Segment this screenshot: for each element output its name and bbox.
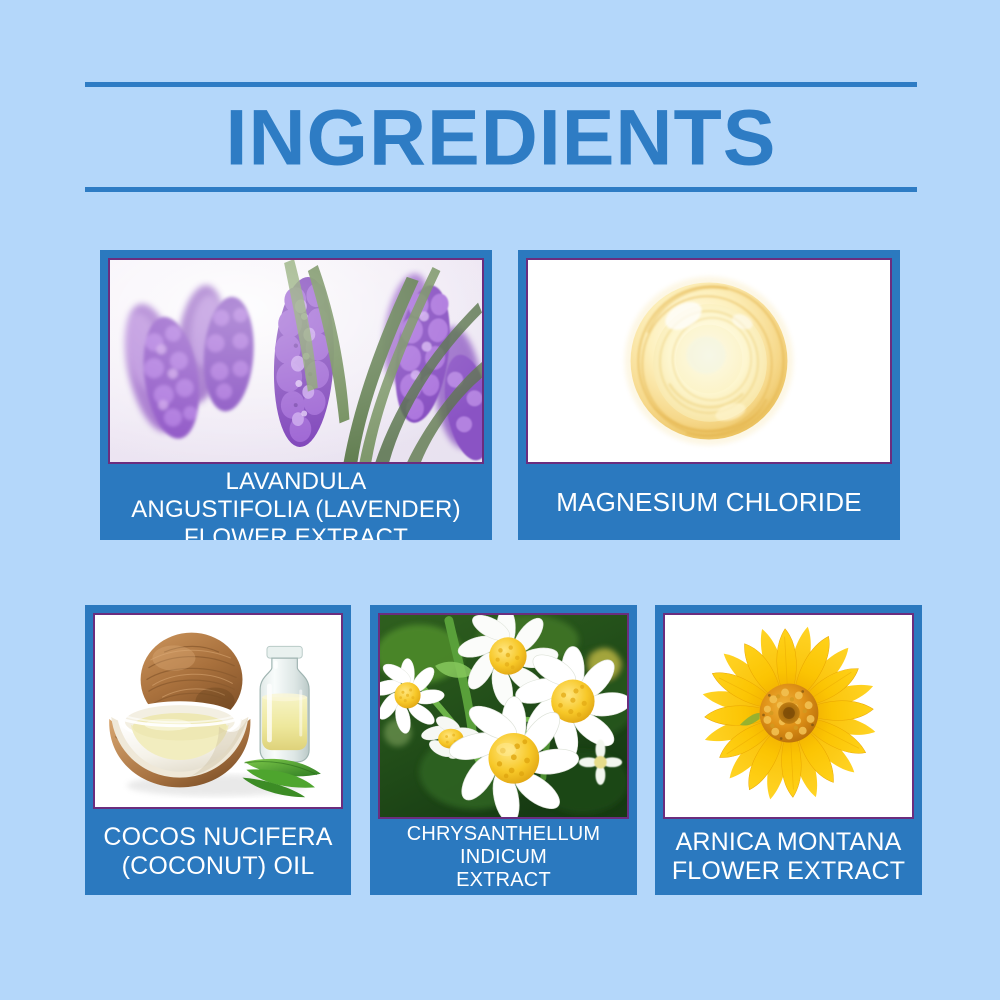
ingredient-label-magnesium-chloride: MAGNESIUM CHLORIDE: [518, 464, 900, 540]
ingredient-label-cocos-nucifera: COCOS NUCIFERA (COCONUT) OIL: [85, 809, 351, 895]
ingredient-card-arnica-montana: ARNICA MONTANA FLOWER EXTRACT: [655, 605, 922, 895]
yellow-arnica-flower-photo: [663, 613, 914, 819]
label-line: LAVANDULA: [131, 468, 461, 496]
label-line: COCOS NUCIFERA: [103, 823, 332, 852]
ingredient-card-lavandula: LAVANDULA ANGUSTIFOLIA (LAVENDER) FLOWER…: [100, 250, 492, 540]
label-line: FLOWER EXTRACT: [131, 524, 461, 540]
label-line: ANGUSTIFOLIA (LAVENDER): [131, 496, 461, 524]
label-line: EXTRACT: [407, 869, 601, 892]
header-rule-bottom: [85, 187, 917, 192]
label-line: ARNICA MONTANA: [672, 828, 905, 857]
ingredient-card-magnesium-chloride: MAGNESIUM CHLORIDE: [518, 250, 900, 540]
header-rule-top: [85, 82, 917, 87]
label-line: MAGNESIUM CHLORIDE: [556, 487, 862, 517]
label-line: CHRYSANTHELLUM: [407, 823, 601, 846]
ingredient-card-cocos-nucifera: COCOS NUCIFERA (COCONUT) OIL: [85, 605, 351, 895]
ingredients-poster: INGREDIENTS: [0, 0, 1000, 1000]
ingredient-label-arnica-montana: ARNICA MONTANA FLOWER EXTRACT: [655, 819, 922, 895]
label-line: FLOWER EXTRACT: [672, 857, 905, 886]
poster-header: INGREDIENTS: [85, 82, 917, 192]
oil-droplet-photo: [526, 258, 892, 464]
lavender-flowers-photo: [108, 258, 484, 464]
white-daisy-flowers-photo: [378, 613, 629, 819]
label-line: INDICUM: [407, 846, 601, 869]
coconut-and-oil-bottle-photo: [93, 613, 343, 809]
label-line: (COCONUT) OIL: [103, 852, 332, 881]
ingredient-card-chrysanthellum: CHRYSANTHELLUM INDICUM EXTRACT: [370, 605, 637, 895]
ingredient-label-lavandula: LAVANDULA ANGUSTIFOLIA (LAVENDER) FLOWER…: [100, 464, 492, 540]
ingredient-label-chrysanthellum: CHRYSANTHELLUM INDICUM EXTRACT: [370, 819, 637, 895]
page-title: INGREDIENTS: [85, 98, 917, 177]
